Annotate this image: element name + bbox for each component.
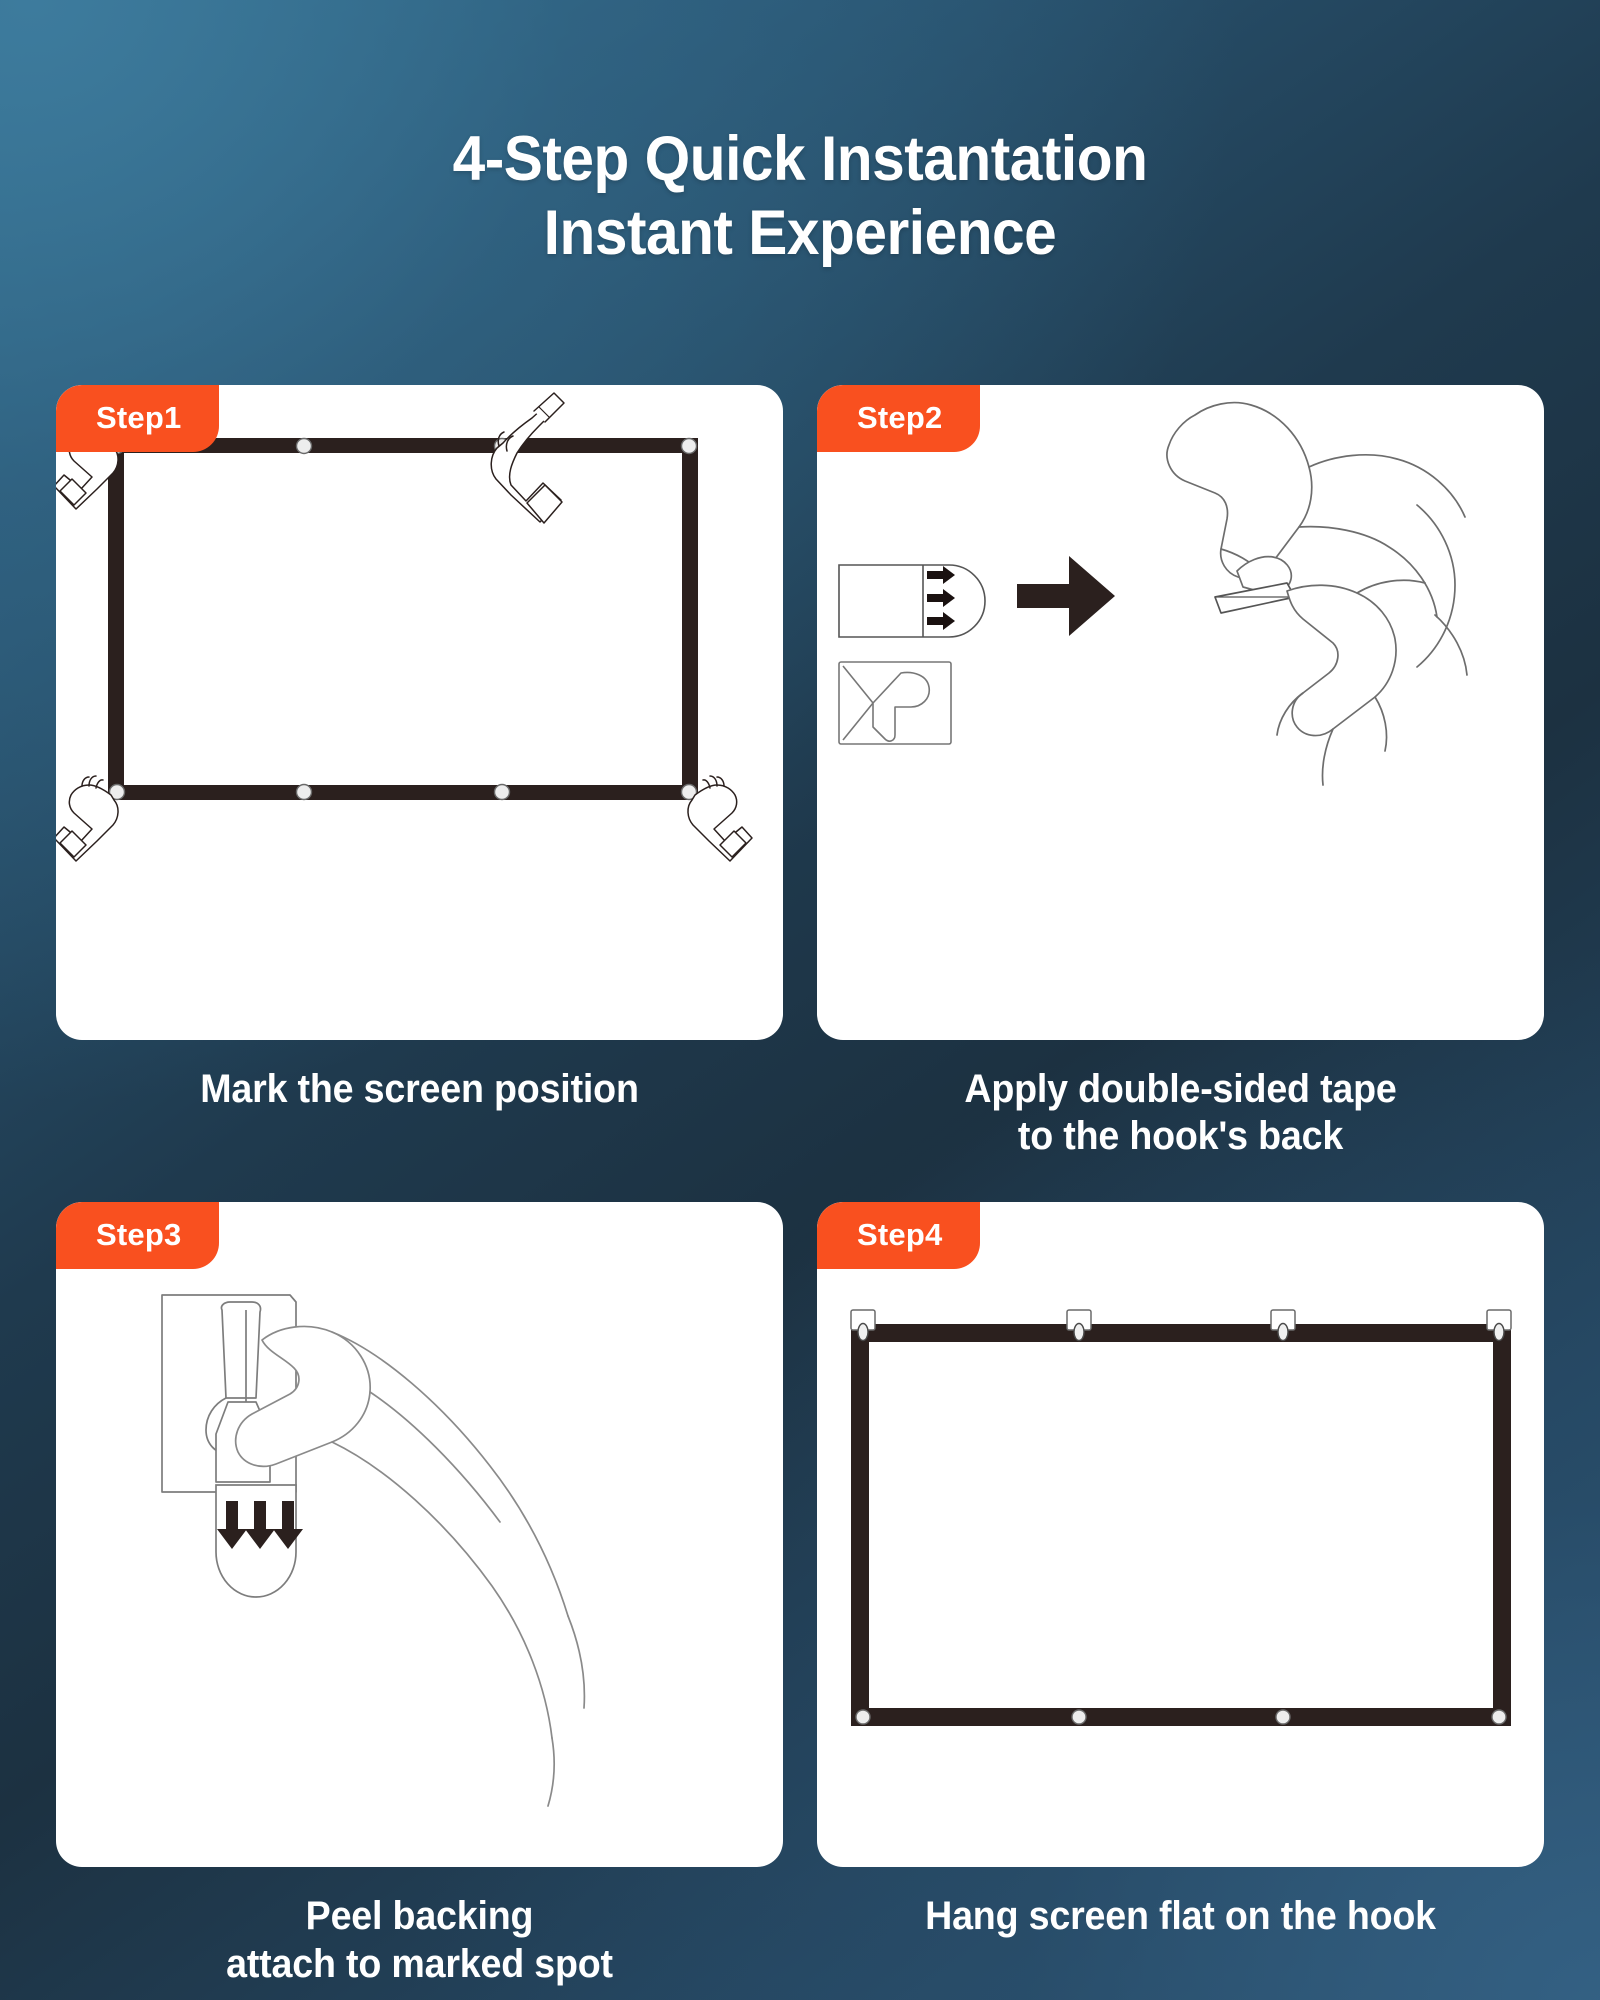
step-illustration-1	[56, 385, 783, 1040]
step-cell-1: Step1	[56, 385, 783, 1160]
step-illustration-2	[817, 385, 1544, 1040]
step-badge-2: Step2	[817, 385, 980, 452]
step-badge-1: Step1	[56, 385, 219, 452]
step-card-4[interactable]: Step4	[817, 1202, 1544, 1867]
hung-screen-frame-icon	[851, 1324, 1511, 1726]
title-line-2: Instant Experience	[56, 196, 1544, 270]
step-badge-3: Step3	[56, 1202, 219, 1269]
press-down-arrows-icon	[217, 1501, 303, 1549]
projector-screen-frame-icon	[108, 438, 698, 800]
step-caption-3-line-2: attach to marked spot	[78, 1941, 761, 1988]
page-title: 4-Step Quick Instantation Instant Experi…	[56, 0, 1544, 271]
wall-hook-icon	[839, 662, 951, 744]
step-caption-3: Peel backing attach to marked spot	[78, 1893, 761, 1987]
step-card-2[interactable]: Step2	[817, 385, 1544, 1040]
arrow-right-icon	[1017, 556, 1115, 636]
step-caption-1-line-1: Mark the screen position	[78, 1066, 761, 1113]
step-illustration-3	[56, 1202, 783, 1867]
tape-direction-arrows-icon	[927, 566, 955, 630]
step-caption-1: Mark the screen position	[78, 1066, 761, 1113]
step-caption-4-line-1: Hang screen flat on the hook	[839, 1893, 1522, 1940]
steps-row-1: Step1	[56, 385, 1544, 1160]
step-caption-4: Hang screen flat on the hook	[839, 1893, 1522, 1940]
step-badge-4: Step4	[817, 1202, 980, 1269]
hands-applying-tape-icon	[1167, 403, 1467, 785]
step-caption-2: Apply double-sided tape to the hook's ba…	[839, 1066, 1522, 1160]
step-caption-2-line-1: Apply double-sided tape	[839, 1066, 1522, 1113]
double-sided-tape-icon	[839, 565, 985, 637]
infographic-page: 4-Step Quick Instantation Instant Experi…	[0, 0, 1600, 2000]
step-cell-2: Step2	[817, 385, 1544, 1160]
step-illustration-4	[817, 1202, 1544, 1867]
step-caption-2-line-2: to the hook's back	[839, 1113, 1522, 1160]
step-card-3[interactable]: Step3	[56, 1202, 783, 1867]
step-cell-3: Step3	[56, 1202, 783, 1987]
step-card-1[interactable]: Step1	[56, 385, 783, 1040]
title-line-1: 4-Step Quick Instantation	[453, 124, 1148, 194]
step-caption-3-line-1: Peel backing	[78, 1893, 761, 1940]
steps-row-2: Step3	[56, 1202, 1544, 1987]
step-cell-4: Step4	[817, 1202, 1544, 1987]
steps-grid: Step1	[56, 385, 1544, 1988]
